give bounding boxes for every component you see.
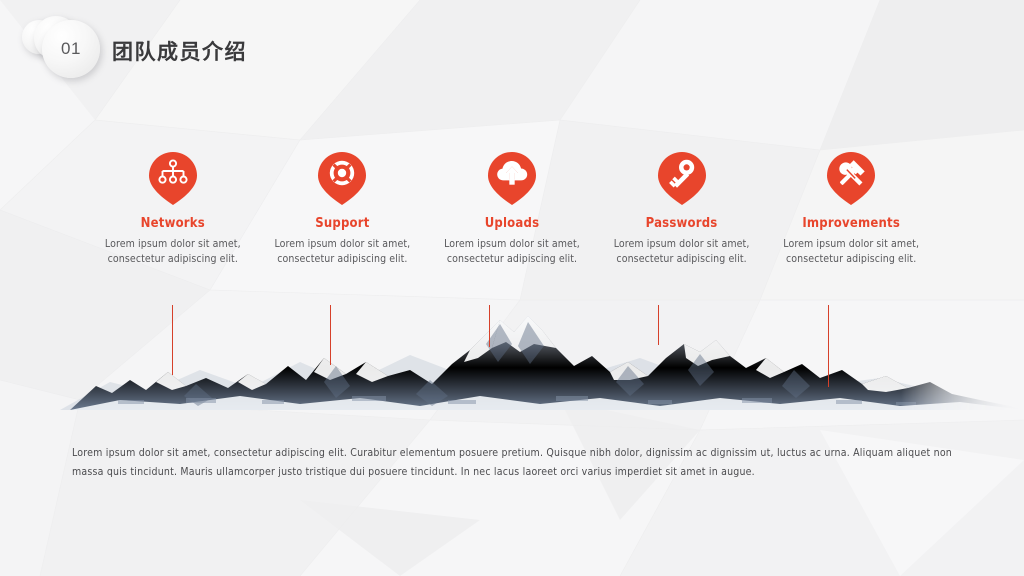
feature-description: Lorem ipsum dolor sit amet, consectetur … xyxy=(437,237,587,267)
footer-paragraph: Lorem ipsum dolor sit amet, consectetur … xyxy=(72,444,952,482)
feature-label: Improvements xyxy=(802,216,900,231)
hammer-wrench-icon[interactable] xyxy=(823,150,879,206)
header-number: 01 xyxy=(61,39,81,59)
cloud-upload-icon[interactable] xyxy=(484,150,540,206)
connector-line-3 xyxy=(489,305,490,347)
feature-description: Lorem ipsum dolor sit amet, consectetur … xyxy=(98,237,248,267)
feature-item-uploads[interactable]: Uploads Lorem ipsum dolor sit amet, cons… xyxy=(427,150,597,310)
feature-label: Uploads xyxy=(485,216,540,231)
feature-label: Passwords xyxy=(646,216,718,231)
feature-description: Lorem ipsum dolor sit amet, consectetur … xyxy=(776,237,926,267)
lifebuoy-icon[interactable] xyxy=(314,150,370,206)
feature-item-passwords[interactable]: Passwords Lorem ipsum dolor sit amet, co… xyxy=(597,150,767,310)
slide-header: 01 团队成员介绍 xyxy=(0,0,1024,96)
feature-item-support[interactable]: Support Lorem ipsum dolor sit amet, cons… xyxy=(258,150,428,310)
page-title: 团队成员介绍 xyxy=(112,36,247,66)
feature-item-improvements[interactable]: Improvements Lorem ipsum dolor sit amet,… xyxy=(766,150,936,310)
network-hierarchy-icon[interactable] xyxy=(145,150,201,206)
connector-line-5 xyxy=(828,305,829,387)
feature-description: Lorem ipsum dolor sit amet, consectetur … xyxy=(607,237,757,267)
feature-label: Support xyxy=(315,216,369,231)
feature-pin-row: Networks Lorem ipsum dolor sit amet, con… xyxy=(88,150,936,310)
feature-item-networks[interactable]: Networks Lorem ipsum dolor sit amet, con… xyxy=(88,150,258,310)
header-number-badge: 01 xyxy=(42,20,100,78)
key-icon[interactable] xyxy=(654,150,710,206)
feature-description: Lorem ipsum dolor sit amet, consectetur … xyxy=(267,237,417,267)
feature-label: Networks xyxy=(141,216,205,231)
slide-canvas: 01 团队成员介绍 xyxy=(0,0,1024,576)
connector-line-4 xyxy=(658,305,659,345)
connector-line-1 xyxy=(172,305,173,375)
connector-line-2 xyxy=(330,305,331,365)
